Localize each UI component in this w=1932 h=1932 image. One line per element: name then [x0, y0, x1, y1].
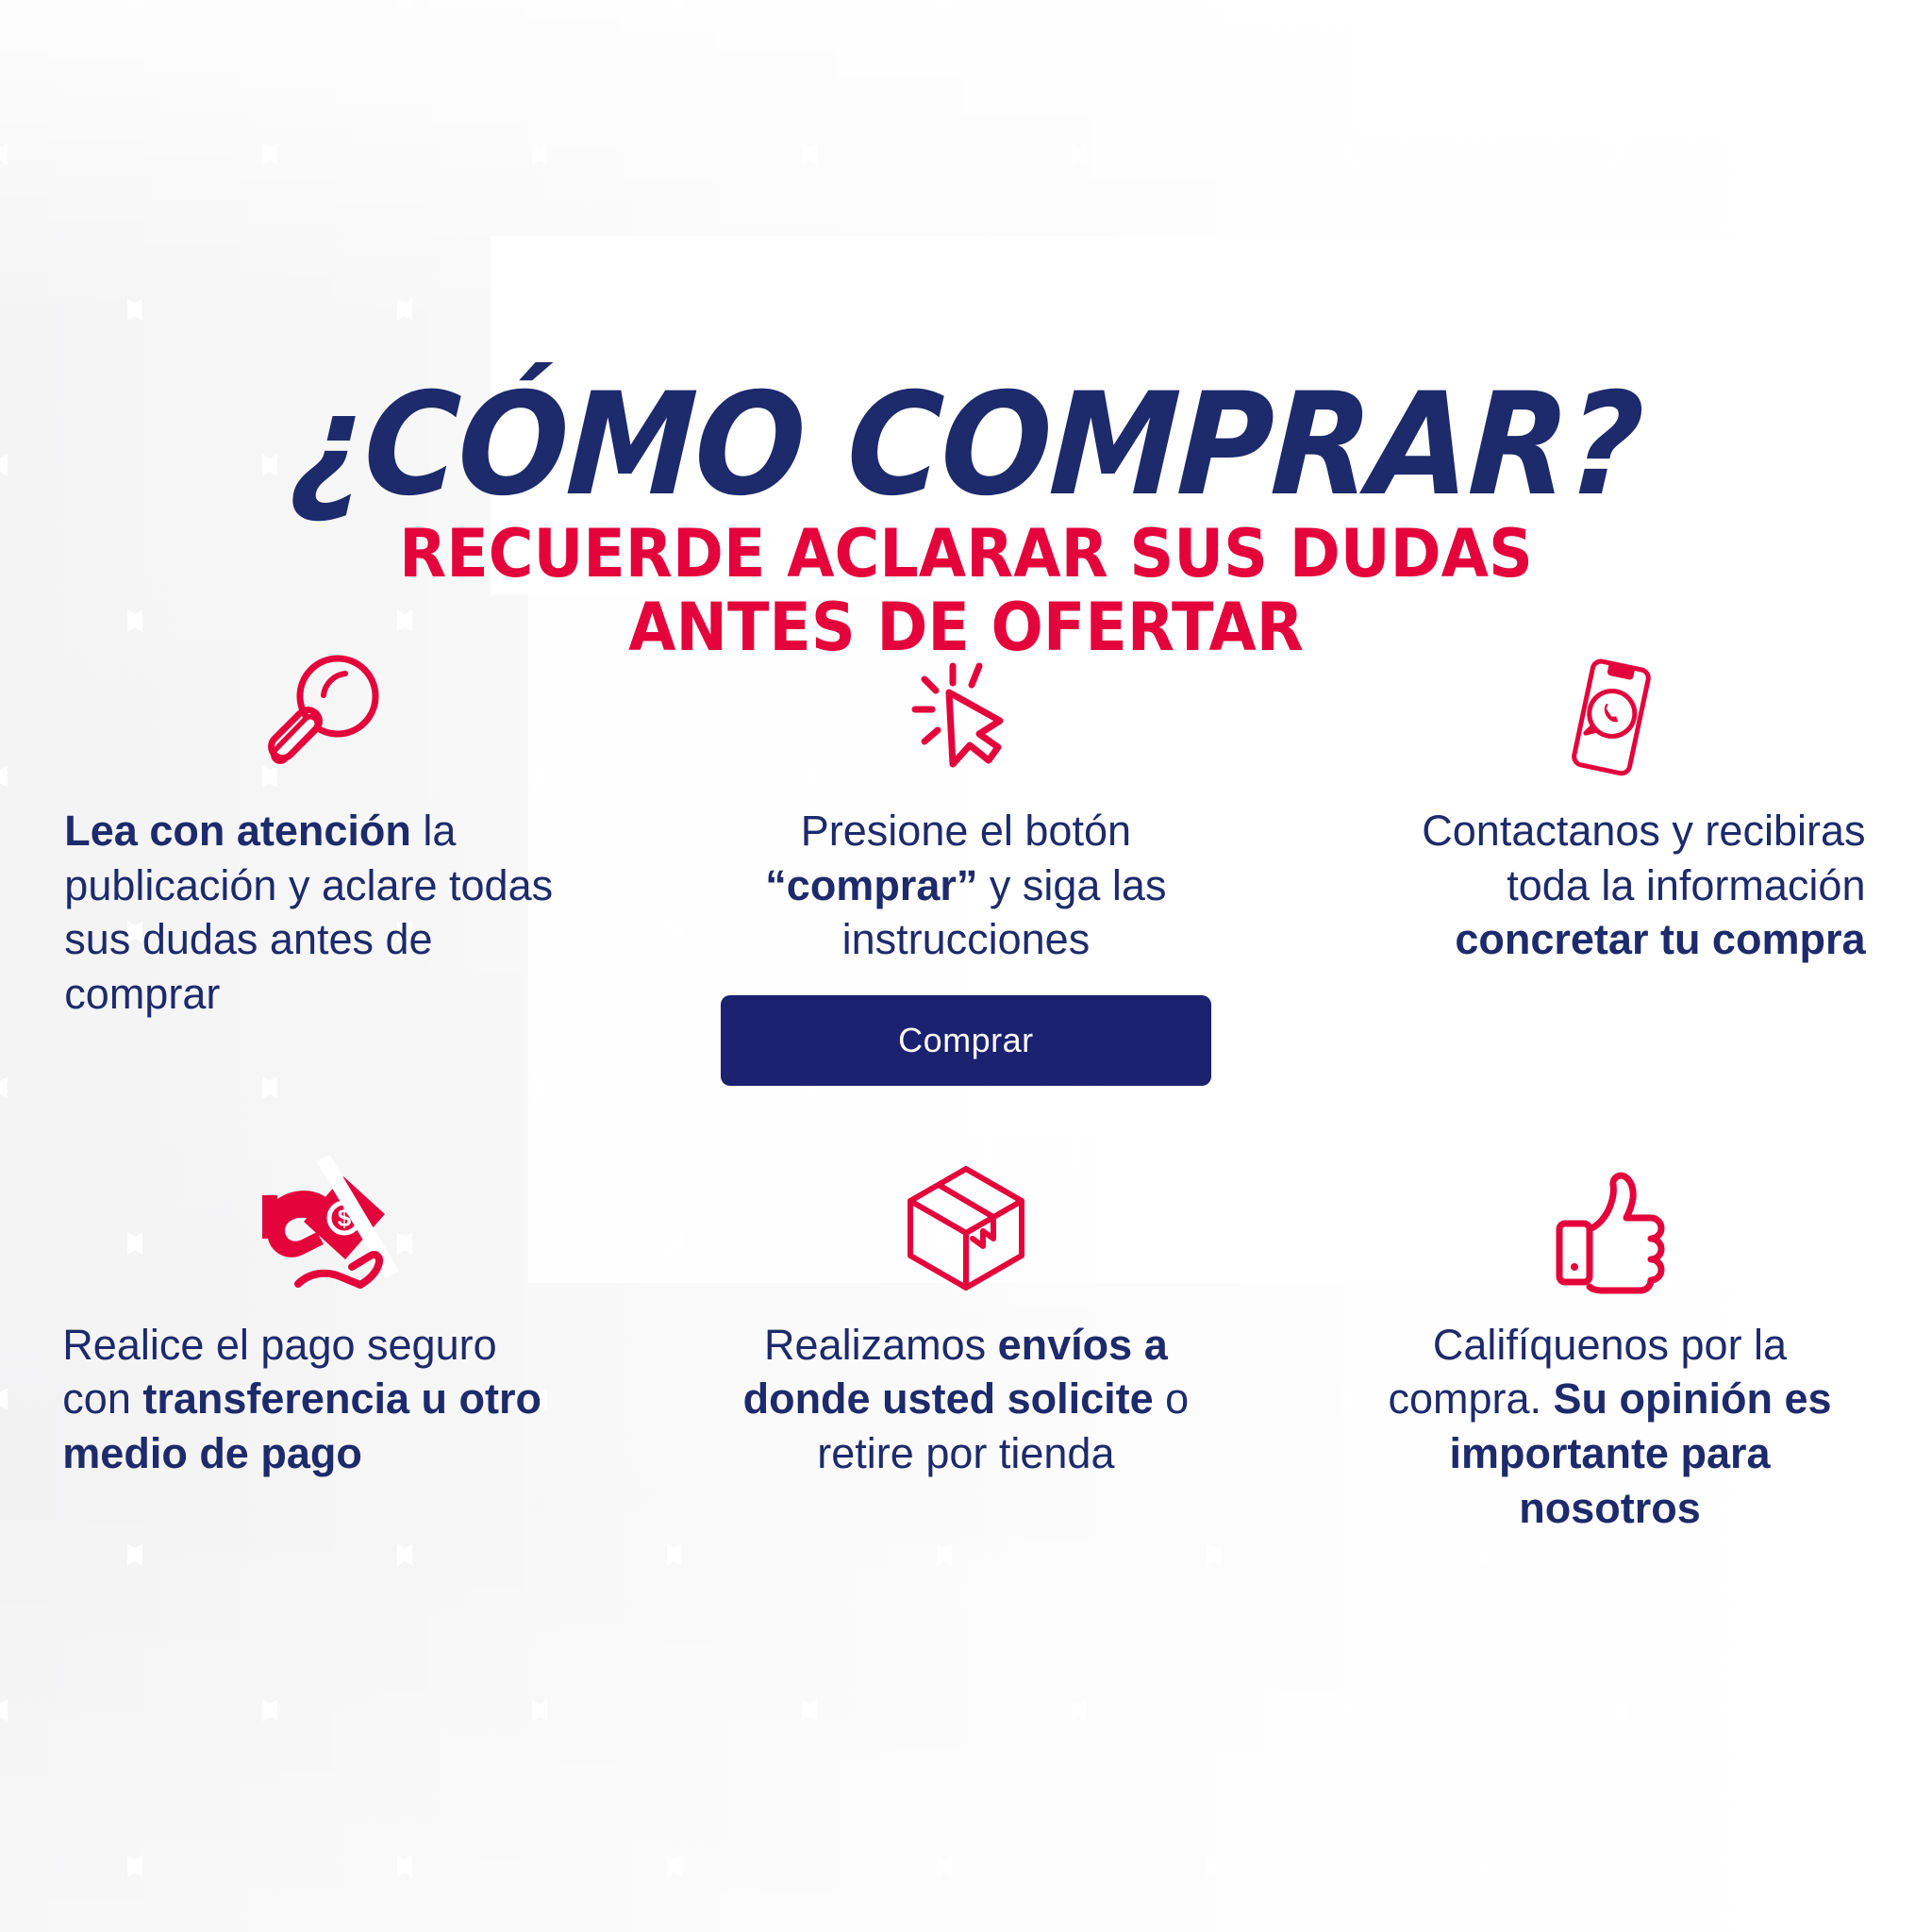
step-card-rate-us: Califíquenos por la compra. Su opinión e… [1288, 1156, 1932, 1535]
step-card-contact-us: Contactanos y recibiras toda la informac… [1288, 651, 1932, 1086]
magnifier-icon [251, 651, 392, 783]
step-text-bold: Lea con atención [64, 807, 423, 855]
steps-row-top: Lea con atención la publicación y aclare… [0, 651, 1932, 1086]
step-icon-slot [900, 651, 1032, 783]
step-text: Califíquenos por la compra. Su opinión e… [1374, 1318, 1845, 1535]
step-text: Realice el pago seguro con transferencia… [62, 1318, 543, 1481]
step-text-normal: Realizamos [764, 1321, 998, 1369]
cursor-click-icon [900, 651, 1032, 783]
steps-row-bottom: $ Realice el pago seguro con transferenc… [0, 1156, 1932, 1535]
step-icon-slot: $ [241, 1156, 402, 1297]
package-box-icon [895, 1156, 1037, 1297]
step-text-bold: concretar tu compra [1455, 915, 1865, 963]
step-text: Lea con atención la publicación y aclare… [64, 804, 555, 1021]
step-text-normal: Contactanos y recibiras toda la informac… [1422, 807, 1865, 909]
page-subtitle: RECUERDE ACLARAR SUS DUDAS ANTES DE OFER… [68, 517, 1865, 665]
page-title: ¿CÓMO COMPRAR? [74, 375, 1857, 516]
step-text: Contactanos y recibiras toda la informac… [1374, 804, 1865, 967]
step-text: Realizamos envíos a donde usted solicite… [721, 1318, 1211, 1481]
step-card-press-buy: Presione el botón “comprar” y siga las i… [644, 651, 1289, 1086]
step-card-read-carefully: Lea con atención la publicación y aclare… [0, 651, 644, 1086]
step-text-normal: Presione el botón [801, 807, 1131, 855]
step-card-secure-payment: $ Realice el pago seguro con transferenc… [0, 1156, 644, 1535]
thumbs-up-icon [1539, 1156, 1680, 1297]
step-icon-slot [1539, 1156, 1680, 1297]
whatsapp-phone-icon [1543, 651, 1675, 783]
subtitle-line-1: RECUERDE ACLARAR SUS DUDAS [399, 515, 1533, 592]
step-icon-slot [895, 1156, 1037, 1297]
cash-in-hand-icon: $ [241, 1156, 402, 1297]
infographic-canvas: ¿CÓMO COMPRAR? RECUERDE ACLARAR SUS DUDA… [0, 0, 1932, 1932]
step-card-shipping: Realizamos envíos a donde usted solicite… [644, 1156, 1289, 1535]
step-icon-slot [251, 651, 392, 783]
comprar-button[interactable]: Comprar [721, 995, 1211, 1086]
steps-grid: Lea con atención la publicación y aclare… [0, 651, 1932, 1535]
step-icon-slot [1543, 651, 1675, 783]
step-text: Presione el botón “comprar” y siga las i… [721, 804, 1211, 967]
step-text-bold: “comprar” [765, 861, 977, 909]
